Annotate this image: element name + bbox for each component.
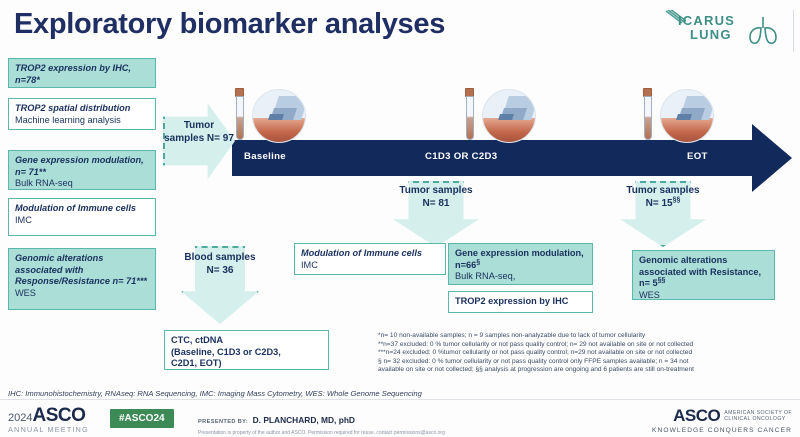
footer-annual-meeting: ANNUAL MEETING [8,425,89,434]
society-line2: CLINICAL ONCOLOGY [724,416,785,422]
presenter-name: D. PLANCHARD, MD, phD [253,415,355,425]
mid-box-immune-cells-sub: IMC [301,260,439,272]
footer-asco-wordmark: ASCO [32,405,85,426]
blood-ctc-line1: CTC, ctDNA [171,335,322,347]
footer-year: 2024 [8,412,32,424]
timeline-label-baseline: Baseline [244,151,286,162]
left-box-trop2-ihc-title: TROP2 expression by IHC, n=78* [15,63,149,86]
asco-society-logo: ASCOAMERICAN SOCIETY OFCLINICAL ONCOLOGY… [652,406,792,434]
footnote-5: available on site or not collected; §§ a… [378,366,796,375]
left-box-genomic-alterations-title: Genomic alterations associated with Resp… [15,253,149,288]
left-box-immune-cells-title: Modulation of Immune cells [15,203,149,215]
callout-tumor-baseline-text: Tumor samples N= 97 [163,103,235,145]
asco-right-wordmark: ASCO [673,406,720,426]
callout-tumor-mid-text: Tumor samples N= 81 [393,181,479,210]
page-title: Exploratory biomarker analyses [14,8,445,41]
left-box-gene-expression-title: Gene expression modulation, n= 71** [15,155,149,178]
society-line1: AMERICAN SOCIETY OF [724,410,792,416]
mid-box-gene-expression: Gene expression modulation, n=66§ Bulk R… [448,243,593,285]
eot-box-genomic-alterations: Genomic alterations associated with Resi… [632,250,775,300]
eot-box-genomic-sub: WES [639,290,768,302]
presented-by-block: PRESENTED BY: D. PLANCHARD, MD, phD Pres… [198,410,445,436]
footnote-2: **n=37 excluded: 0 % tumor cellularity o… [378,341,796,350]
footnote-4: § n= 32 excluded: 0 % tumor cellularity … [378,358,796,367]
mid-box-immune-cells-title: Modulation of Immune cells [301,248,439,260]
timeline-label-c1d3-c2d3: C1D3 OR C2D3 [425,151,497,162]
blood-tube-icon [465,88,474,140]
mid-box-gene-expression-title: Gene expression modulation, n=66§ [455,248,586,271]
icarus-line2: LUNG [690,28,735,42]
timeline-arrow-head [752,124,792,192]
eot-box-genomic-title: Genomic alterations associated with Resi… [639,255,768,290]
left-box-trop2-spatial: TROP2 spatial distribution Machine learn… [8,98,156,130]
footer-fine-print: Presentation is property of the author a… [198,430,445,436]
specimen-icon-c1d3-c2d3 [462,86,538,142]
asco-society-name: AMERICAN SOCIETY OFCLINICAL ONCOLOGY [724,410,792,423]
biopsy-microscopy-icon [660,89,714,143]
lung-icon [746,14,780,51]
slide-canvas: Exploratory biomarker analyses ICARUS LU… [0,0,800,437]
hashtag-badge: #ASCO24 [110,409,174,428]
timeline-label-eot: EOT [687,151,708,162]
left-box-trop2-ihc: TROP2 expression by IHC, n=78* [8,58,156,88]
blood-ctc-ctdna-box: CTC, ctDNA (Baseline, C1D3 or C2D3, C2D1… [164,330,329,370]
specimen-icon-eot [640,86,716,142]
presented-by-label: PRESENTED BY: [198,419,248,425]
icarus-wordmark: ICARUS LUNG [678,14,735,42]
abbreviations-line: IHC: Immunohistochemistry, RNAseq: RNA S… [8,389,422,398]
left-box-genomic-alterations-sub: WES [15,288,149,300]
blood-tube-icon [235,88,244,140]
callout-tumor-samples-baseline: Tumor samples N= 97 [163,103,235,179]
mid-box-gene-expression-sub: Bulk RNA-seq, [455,271,586,283]
footnotes-block: *n= 10 non-available samples; n = 9 samp… [378,332,796,375]
asco-tagline: KNOWLEDGE CONQUERS CANCER [652,427,792,434]
footnote-1: *n= 10 non-available samples; n = 9 samp… [378,332,796,341]
left-box-immune-cells-sub: IMC [15,215,149,227]
left-box-gene-expression: Gene expression modulation, n= 71** Bulk… [8,150,156,190]
footer-divider [0,399,800,400]
specimen-icon-baseline [232,86,308,142]
logo-divider [793,10,794,52]
icarus-lung-logo: ICARUS LUNG [654,6,794,56]
mid-box-trop2-ihc: TROP2 expression by IHC [448,291,593,313]
left-box-trop2-spatial-title: TROP2 spatial distribution [15,103,149,115]
blood-tube-icon [643,88,652,140]
blood-ctc-line3: C2D1, EOT) [171,358,322,370]
callout-blood-samples-baseline: Blood samples N= 36 [181,246,259,324]
mid-box-trop2-ihc-title: TROP2 expression by IHC [455,296,586,308]
callout-tumor-eot-text: Tumor samples N= 15§§ [620,181,706,210]
callout-tumor-samples-eot: Tumor samples N= 15§§ [620,181,706,247]
asco-annual-meeting-logo: 2024ASCO ANNUAL MEETING [8,405,89,434]
blood-ctc-line2: (Baseline, C1D3 or C2D3, [171,347,322,359]
callout-tumor-eot-label: Tumor samples N= 15 [626,185,699,209]
biopsy-microscopy-icon [252,89,306,143]
left-box-genomic-alterations: Genomic alterations associated with Resp… [8,248,156,310]
left-box-immune-cells: Modulation of Immune cells IMC [8,198,156,236]
callout-blood-baseline-text: Blood samples N= 36 [181,246,259,277]
left-box-gene-expression-sub: Bulk RNA-seq [15,178,149,190]
biopsy-microscopy-icon [482,89,536,143]
mid-box-immune-cells: Modulation of Immune cells IMC [294,243,446,275]
callout-tumor-samples-mid: Tumor samples N= 81 [393,181,479,247]
footnote-3: ***n=24 excluded: 0 %tumor cellularity o… [378,349,796,358]
left-box-trop2-spatial-sub: Machine learning analysis [15,115,149,127]
icarus-line1: ICARUS [678,13,735,28]
mid-box-gene-expression-label: Gene expression modulation, n=66 [455,248,584,270]
